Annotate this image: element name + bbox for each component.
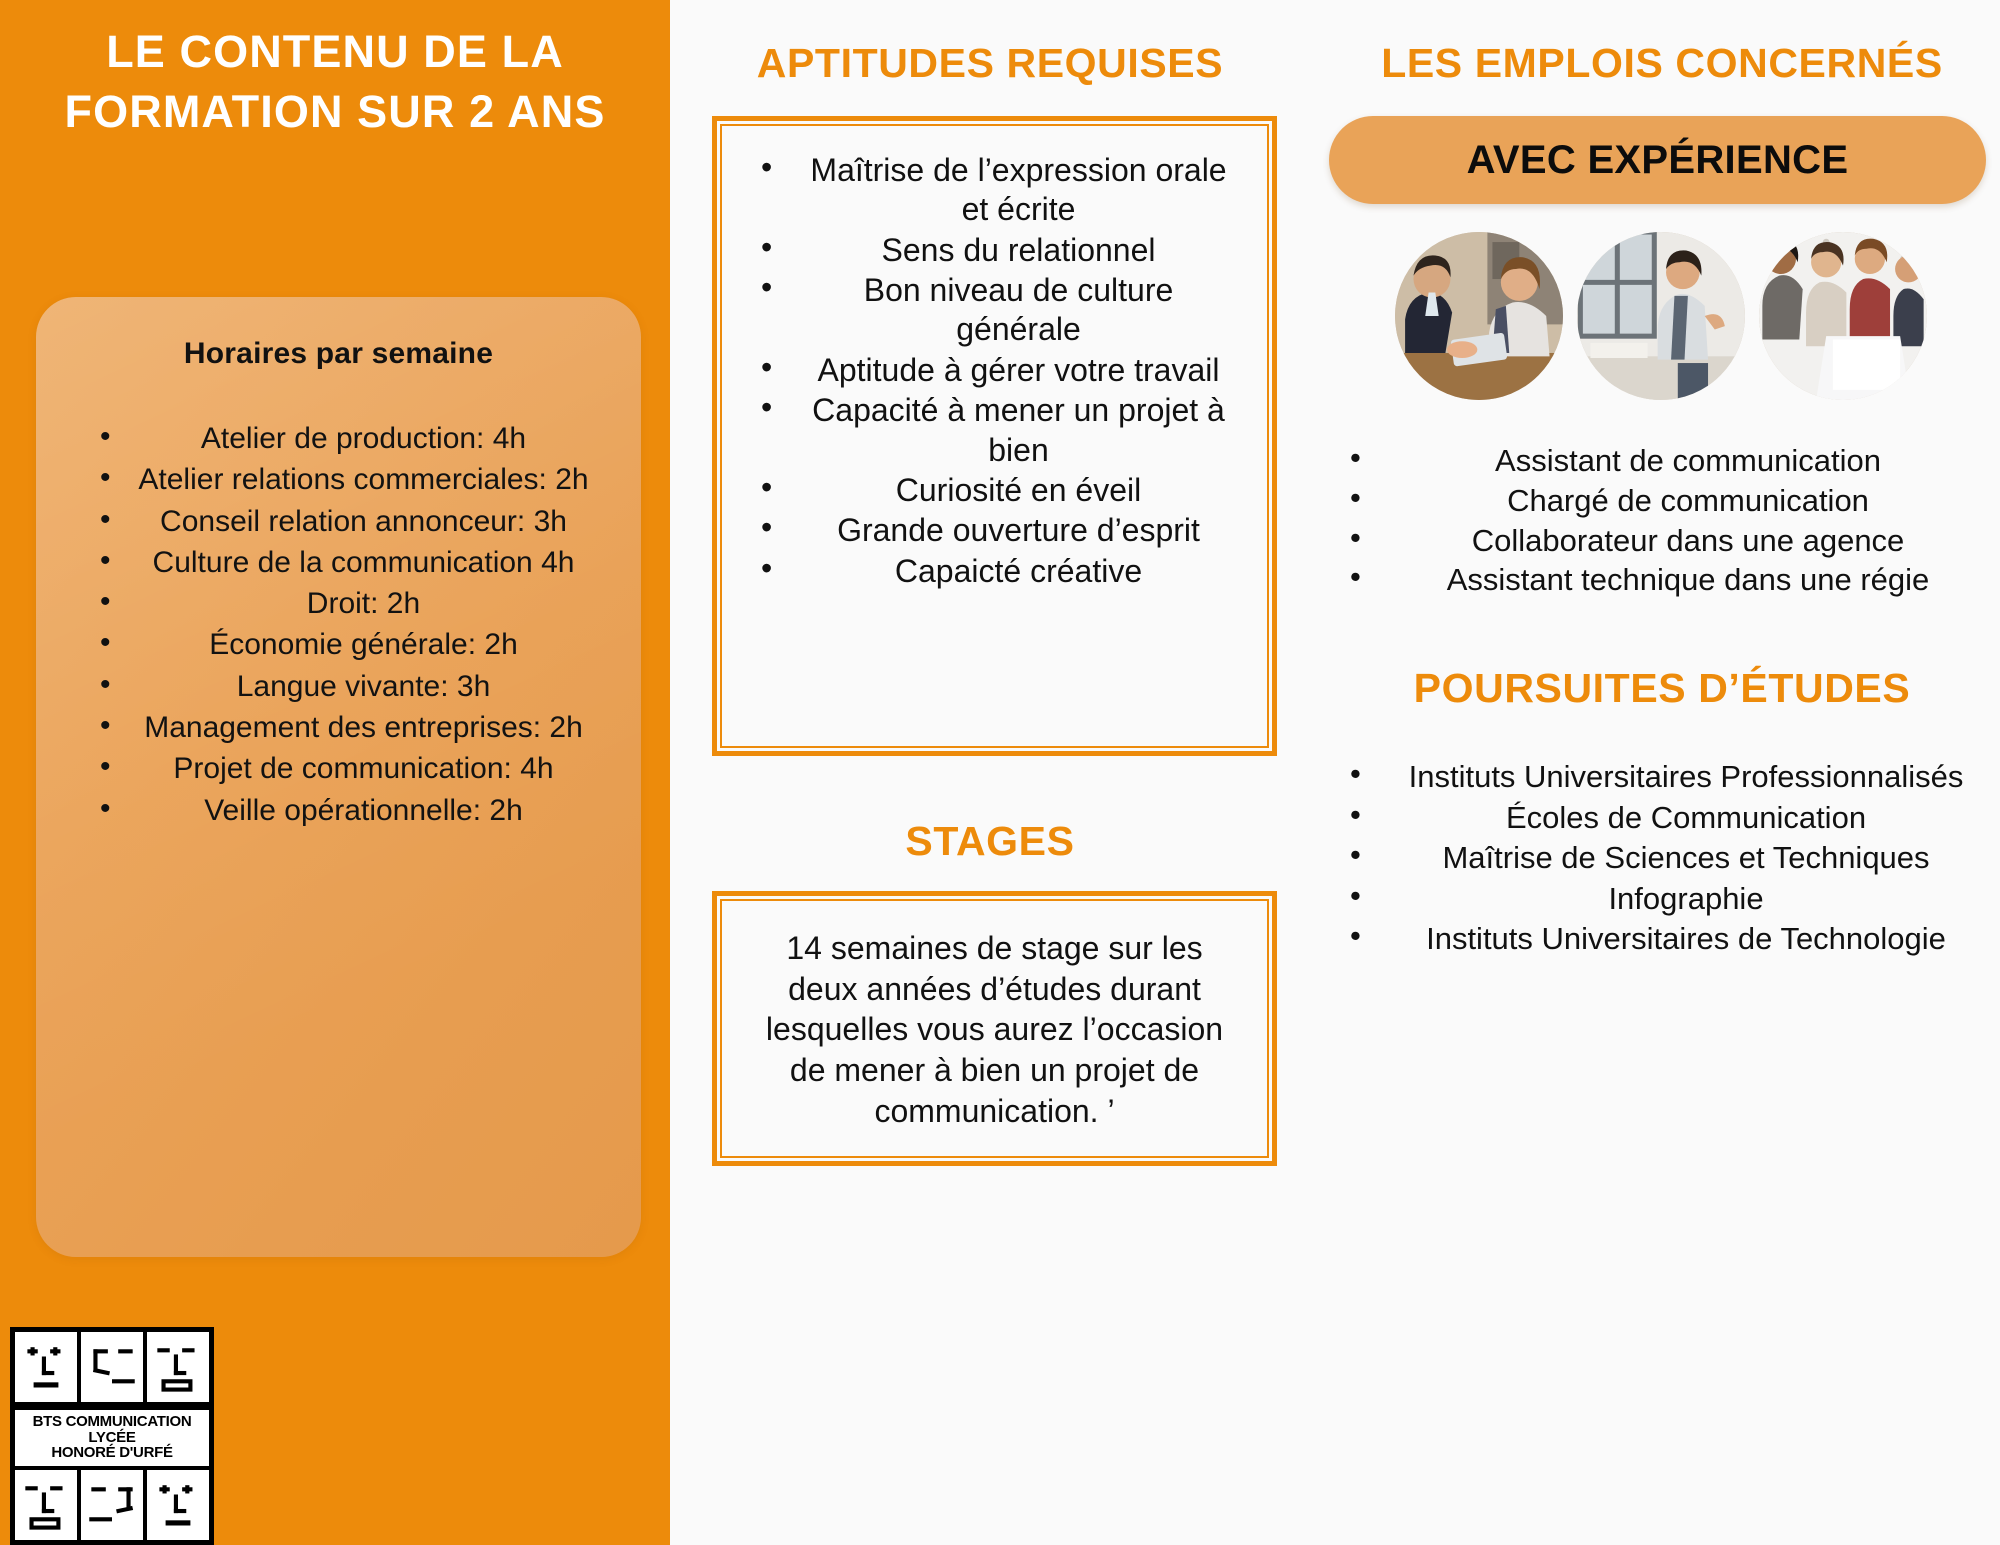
list-item: Grande ouverture d’esprit [727, 511, 1262, 550]
schedule-card: Horaires par semaine Atelier de producti… [36, 297, 641, 1257]
face-icon [147, 1470, 209, 1540]
list-item: Management des entreprises: 2h [82, 708, 601, 747]
stages-box: 14 semaines de stage sur les deux années… [712, 891, 1277, 1166]
logo-face-cell [15, 1470, 81, 1540]
schedule-list: Atelier de production: 4h Atelier relati… [36, 419, 641, 830]
logo-line-2: LYCÉE [17, 1430, 207, 1446]
emplois-list: Assistant de communication Chargé de com… [1310, 442, 2000, 599]
school-logo: BTS COMMUNICATION LYCÉE HONORÉ D'URFÉ [10, 1327, 214, 1545]
poursuites-title: POURSUITES D’ÉTUDES [1310, 601, 2000, 712]
list-item: Capaicté créative [727, 552, 1262, 591]
list-item: Veille opérationnelle: 2h [82, 791, 601, 830]
photo-illustration [1759, 232, 1927, 400]
list-item: Sens du relationnel [727, 231, 1262, 270]
logo-text-block: BTS COMMUNICATION LYCÉE HONORÉ D'URFÉ [15, 1406, 209, 1471]
face-icon [81, 1470, 143, 1540]
list-item: Collaborateur dans une agence [1320, 522, 2000, 560]
schedule-heading: Horaires par semaine [36, 297, 641, 371]
list-item: Instituts Universitaires de Technologie [1320, 920, 2000, 958]
aptitudes-list: Maîtrise de l’expression orale et écrite… [727, 151, 1262, 591]
brochure-page: LE CONTENU DE LA FORMATION SUR 2 ANS Hor… [0, 0, 2000, 1545]
right-column: LES EMPLOIS CONCERNÉS AVEC EXPÉRIENCE [1310, 0, 2000, 1545]
list-item: Instituts Universitaires Professionnalis… [1320, 758, 2000, 796]
logo-line-1: BTS COMMUNICATION [17, 1414, 207, 1430]
aptitudes-box: Maîtrise de l’expression orale et écrite… [712, 116, 1277, 756]
logo-face-cell [81, 1470, 147, 1540]
experience-badge: AVEC EXPÉRIENCE [1329, 116, 1986, 204]
logo-top-row [15, 1332, 209, 1406]
list-item: Projet de communication: 4h [82, 749, 601, 788]
logo-face-cell [81, 1332, 147, 1402]
experience-badge-label: AVEC EXPÉRIENCE [1467, 138, 1849, 183]
list-item: Curiosité en éveil [727, 471, 1262, 510]
left-orange-column: LE CONTENU DE LA FORMATION SUR 2 ANS Hor… [0, 0, 670, 1545]
list-item: Langue vivante: 3h [82, 667, 601, 706]
list-item: Atelier relations commerciales: 2h [82, 460, 601, 499]
logo-bottom-row [15, 1470, 209, 1540]
list-item: Maîtrise de Sciences et Techniques [1320, 839, 2000, 877]
photo-row [1310, 232, 2000, 400]
photo-illustration [1577, 232, 1745, 400]
face-icon [15, 1332, 77, 1402]
list-item: Infographie [1320, 880, 2000, 918]
logo-face-cell [15, 1332, 81, 1402]
face-icon [81, 1332, 143, 1402]
poursuites-list: Instituts Universitaires Professionnalis… [1310, 758, 2000, 958]
photo-illustration [1395, 232, 1563, 400]
list-item: Conseil relation annonceur: 3h [82, 502, 601, 541]
list-item: Culture de la communication 4h [82, 543, 601, 582]
stages-paragraph: 14 semaines de stage sur les deux années… [753, 928, 1236, 1131]
middle-column: APTITUDES REQUISES Maîtrise de l’express… [670, 0, 1310, 1545]
logo-face-cell [147, 1470, 209, 1540]
photo-two-colleagues-tablet [1395, 232, 1563, 400]
photo-team-meeting-laptop [1759, 232, 1927, 400]
list-item: Aptitude à gérer votre travail [727, 351, 1262, 390]
face-icon [15, 1470, 77, 1540]
aptitudes-title: APTITUDES REQUISES [670, 0, 1310, 87]
list-item: Chargé de communication [1320, 482, 2000, 520]
list-item: Écoles de Communication [1320, 799, 2000, 837]
list-item: Assistant de communication [1320, 442, 2000, 480]
list-item: Capacité à mener un projet à bien [727, 391, 1262, 470]
list-item: Maîtrise de l’expression orale et écrite [727, 151, 1262, 230]
stages-title: STAGES [670, 756, 1310, 865]
list-item: Droit: 2h [82, 584, 601, 623]
list-item: Assistant technique dans une régie [1320, 561, 2000, 599]
list-item: Économie générale: 2h [82, 625, 601, 664]
left-column-title: LE CONTENU DE LA FORMATION SUR 2 ANS [20, 22, 650, 142]
emplois-title: LES EMPLOIS CONCERNÉS [1310, 0, 2000, 87]
logo-face-cell [147, 1332, 209, 1402]
photo-standing-man-office [1577, 232, 1745, 400]
face-icon [147, 1332, 209, 1402]
list-item: Atelier de production: 4h [82, 419, 601, 458]
list-item: Bon niveau de culture générale [727, 271, 1262, 350]
logo-line-3: HONORÉ D'URFÉ [17, 1445, 207, 1461]
